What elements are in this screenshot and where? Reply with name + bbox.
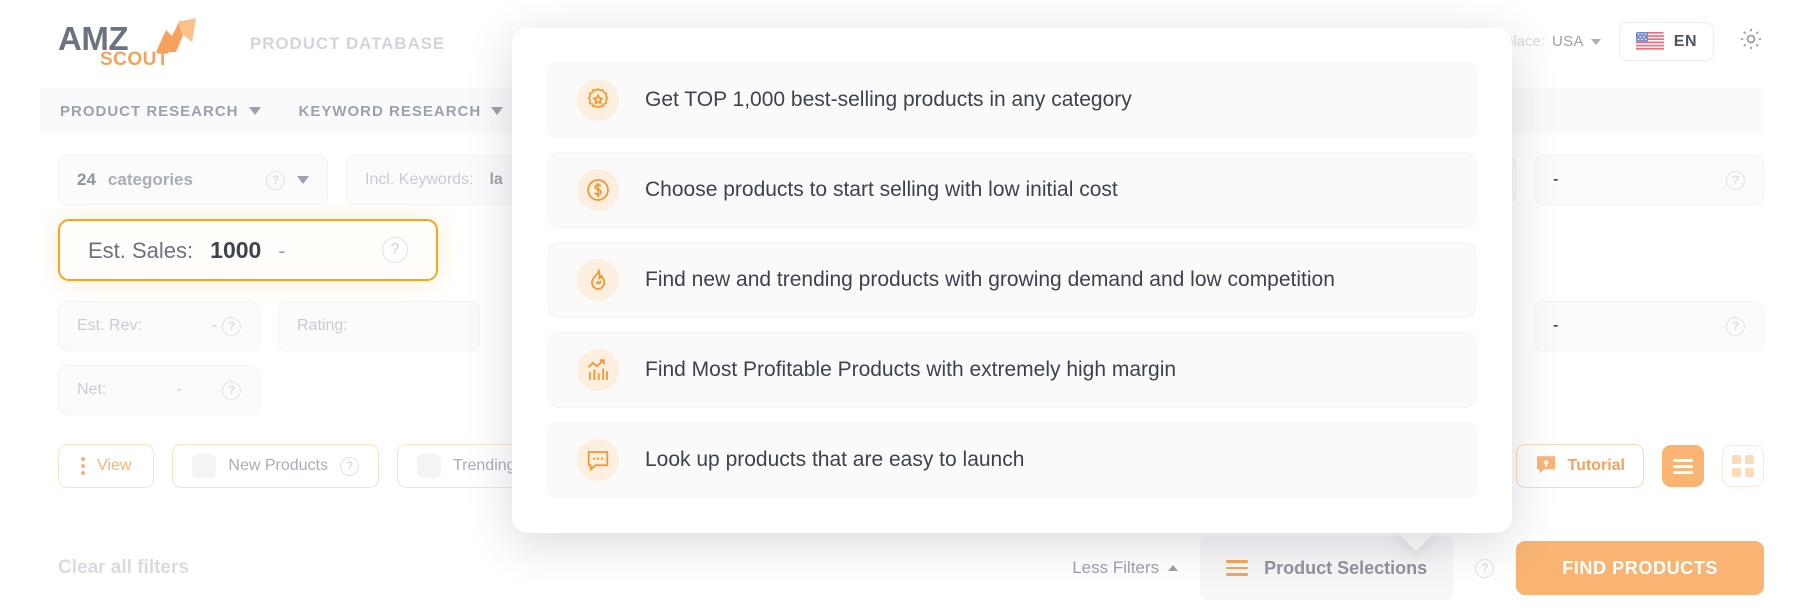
list-item-label: Choose products to start selling with lo… (645, 178, 1118, 202)
speech-bubble-icon (577, 439, 619, 481)
nav-item-product-research[interactable]: PRODUCT RESEARCH (60, 103, 261, 120)
more-options-icon (81, 457, 85, 475)
view-button-label: View (97, 457, 131, 475)
us-flag-icon (1636, 32, 1664, 51)
est-rev-filter[interactable]: Est. Rev: - ? (58, 301, 260, 351)
help-icon[interactable]: ? (222, 317, 241, 336)
net-value: - (176, 381, 181, 399)
categories-label: categories (108, 170, 193, 190)
help-icon[interactable]: ? (222, 381, 241, 400)
checkbox-icon[interactable] (417, 454, 441, 478)
find-products-button[interactable]: FIND PRODUCTS (1516, 541, 1764, 595)
tutorial-icon (1535, 453, 1557, 480)
help-icon[interactable]: ? (266, 171, 285, 190)
dollar-circle-icon (577, 169, 619, 211)
filter-right-stub-2[interactable]: - ? (1534, 301, 1764, 351)
language-code: EN (1674, 33, 1697, 51)
sliders-icon (1226, 560, 1248, 576)
list-item[interactable]: Get TOP 1,000 best-selling products in a… (548, 62, 1476, 138)
new-products-toggle[interactable]: New Products ? (172, 444, 379, 488)
nav-item-keyword-research[interactable]: KEYWORD RESEARCH (299, 103, 504, 120)
list-item-label: Get TOP 1,000 best-selling products in a… (645, 88, 1132, 112)
chevron-down-icon (1591, 39, 1601, 45)
list-item[interactable]: Find Most Profitable Products with extre… (548, 332, 1476, 408)
chevron-down-icon (491, 107, 503, 115)
include-keywords-value: la (489, 171, 502, 189)
chevron-down-icon (297, 176, 309, 184)
chevron-up-icon (1168, 565, 1178, 571)
stub-value-1: - (1553, 171, 1558, 189)
est-sales-value[interactable]: 1000 (210, 237, 261, 264)
less-filters-toggle[interactable]: Less Filters (1072, 558, 1178, 578)
checkbox-icon[interactable] (192, 454, 216, 478)
view-button[interactable]: View (58, 444, 154, 488)
chevron-down-icon (249, 107, 261, 115)
less-filters-label: Less Filters (1072, 558, 1159, 578)
product-selections-popover: Get TOP 1,000 best-selling products in a… (512, 28, 1512, 533)
gear-icon[interactable] (1738, 26, 1764, 57)
est-rev-label: Est. Rev: (77, 317, 142, 335)
filter-right-stub-1[interactable]: - ? (1534, 155, 1764, 205)
help-icon[interactable]: ? (1726, 171, 1745, 190)
clear-all-filters-button[interactable]: Clear all filters (58, 557, 189, 579)
categories-filter[interactable]: 24 categories ? (58, 155, 328, 205)
list-item-label: Look up products that are easy to launch (645, 448, 1024, 472)
page-title: PRODUCT DATABASE (250, 34, 445, 54)
language-selector[interactable]: EN (1619, 22, 1714, 61)
list-item[interactable]: Choose products to start selling with lo… (548, 152, 1476, 228)
logo-arrow-icon (152, 16, 198, 61)
nav-keyword-research-label: KEYWORD RESEARCH (299, 103, 482, 120)
flame-icon (577, 259, 619, 301)
new-products-label: New Products (228, 457, 328, 475)
nav-product-research-label: PRODUCT RESEARCH (60, 103, 239, 120)
list-item[interactable]: Find new and trending products with grow… (548, 242, 1476, 318)
list-item-label: Find Most Profitable Products with extre… (645, 358, 1176, 382)
rating-label: Rating: (297, 317, 348, 335)
grid-view-icon[interactable] (1722, 445, 1764, 487)
brand-logo[interactable]: AMZ SCOUT PRODUCT DATABASE (58, 18, 445, 70)
tutorial-button[interactable]: Tutorial (1516, 444, 1644, 488)
list-item-label: Find new and trending products with grow… (645, 268, 1335, 292)
rating-filter[interactable]: Rating: (278, 301, 480, 351)
est-sales-filter[interactable]: Est. Sales: 1000 - ? (58, 219, 438, 281)
est-rev-value: - (212, 317, 217, 335)
list-item[interactable]: Look up products that are easy to launch (548, 422, 1476, 498)
marketplace-value: USA (1552, 33, 1584, 50)
chart-growth-icon (577, 349, 619, 391)
product-database-app: AMZ SCOUT PRODUCT DATABASE Marketplace: … (0, 0, 1804, 612)
help-icon[interactable]: ? (340, 457, 359, 476)
help-icon[interactable]: ? (382, 237, 408, 263)
list-view-icon[interactable] (1662, 445, 1704, 487)
bottom-action-bar: Clear all filters Less Filters Product S… (0, 524, 1804, 612)
help-icon[interactable]: ? (1726, 317, 1745, 336)
est-sales-label: Est. Sales: (88, 238, 193, 264)
stub-value-2: - (1553, 317, 1558, 335)
tutorial-label: Tutorial (1568, 457, 1625, 475)
badge-star-icon (577, 79, 619, 121)
categories-count: 24 (77, 170, 96, 190)
product-selections-label: Product Selections (1264, 558, 1427, 579)
est-sales-separator: - (278, 240, 285, 264)
net-filter[interactable]: Net: - ? (58, 365, 260, 415)
help-icon[interactable]: ? (1475, 559, 1494, 578)
net-label: Net: (77, 381, 106, 399)
include-keywords-label: Incl. Keywords: (365, 171, 473, 189)
